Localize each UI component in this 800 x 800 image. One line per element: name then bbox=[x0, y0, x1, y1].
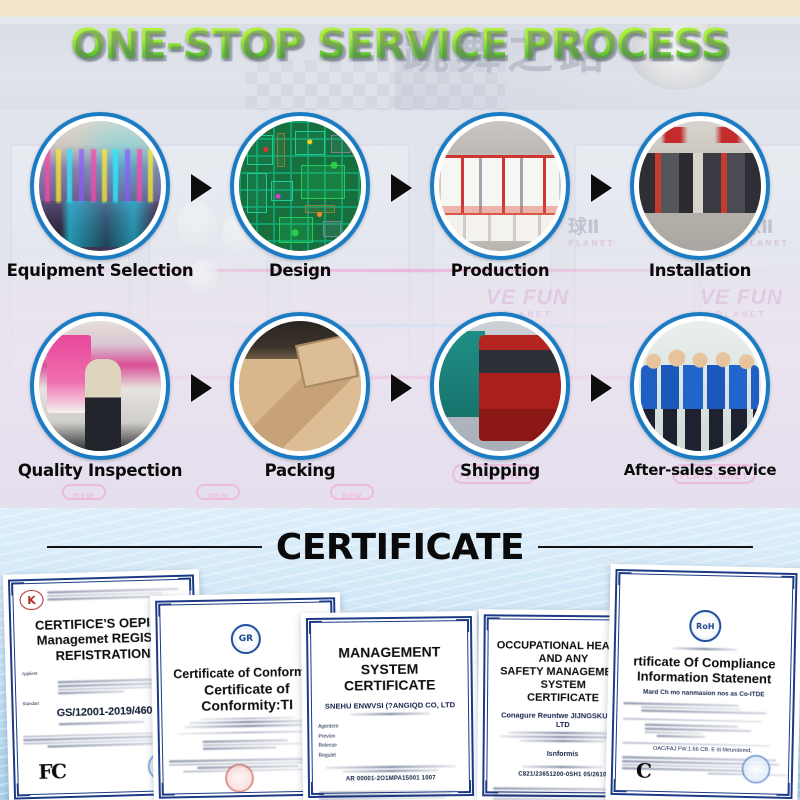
page-root: 跳舞之路 球ⅡPLANET 球ⅡPLANET VE FUNPLANET VE F… bbox=[0, 0, 800, 800]
certificate-company: SNEHU ENWVSI (?ANGIQD CO, LTD bbox=[318, 700, 462, 712]
step-circle[interactable] bbox=[230, 312, 370, 460]
step-photo-installation bbox=[639, 121, 761, 251]
step-photo-quality-inspection bbox=[39, 321, 161, 451]
certificate-field-regulet: Regulet bbox=[319, 750, 463, 761]
process-step-production[interactable]: Production bbox=[400, 112, 600, 297]
official-stamp-icon bbox=[742, 755, 771, 784]
process-row-1: Equipment Selection bbox=[0, 112, 800, 297]
process-step-equipment-selection[interactable]: Equipment Selection bbox=[0, 112, 200, 297]
step-label: Equipment Selection bbox=[7, 262, 194, 280]
step-label: Shipping bbox=[460, 462, 540, 480]
process-step-shipping[interactable]: Shipping bbox=[400, 312, 600, 497]
process-section: 跳舞之路 球ⅡPLANET 球ⅡPLANET VE FUNPLANET VE F… bbox=[0, 0, 800, 508]
process-step-installation[interactable]: Installation bbox=[600, 112, 800, 297]
certificate-detail-lines bbox=[319, 766, 463, 773]
certificate-section-title: CERTIFICATE bbox=[276, 527, 524, 568]
step-photo-production bbox=[439, 121, 561, 251]
ce-mark-icon: C bbox=[636, 758, 652, 782]
step-photo-after-sales-service bbox=[639, 321, 761, 451]
certificate-body: RoH rtificate Of Compliance Information … bbox=[622, 580, 787, 788]
step-circle[interactable] bbox=[430, 312, 570, 460]
step-photo-equipment-selection bbox=[39, 121, 161, 251]
divider-right bbox=[538, 546, 753, 548]
step-label: After-sales service bbox=[624, 462, 776, 479]
certificate-detail-lines bbox=[623, 702, 784, 747]
step-circle[interactable] bbox=[30, 312, 170, 460]
certificate-title-line-1: MANAGEMENT SYSTEM bbox=[317, 643, 461, 678]
page-title: ONE-STOP SERVICE PROCESS bbox=[0, 20, 800, 68]
step-photo-design bbox=[239, 121, 361, 251]
step-circle[interactable] bbox=[630, 312, 770, 460]
gri-round-seal-icon: GR bbox=[231, 624, 262, 655]
process-step-packing[interactable]: Packing bbox=[200, 312, 400, 497]
step-label: Installation bbox=[649, 262, 751, 280]
step-circle[interactable] bbox=[30, 112, 170, 260]
certificate-card-5[interactable]: RoH rtificate Of Compliance Information … bbox=[605, 564, 800, 800]
step-label: Packing bbox=[265, 462, 336, 480]
step-circle[interactable] bbox=[630, 112, 770, 260]
certificate-title-line-2: CERTIFICATE bbox=[318, 676, 462, 694]
certificate-title-line-2: Information Statenent bbox=[624, 669, 784, 688]
k-mark-logo-icon: K bbox=[19, 590, 44, 611]
certificate-card-3[interactable]: MANAGEMENT SYSTEM CERTIFICATE SNEHU ENWV… bbox=[301, 611, 479, 800]
certificate-section: CERTIFICATE K bbox=[0, 508, 800, 800]
certificate-code: OAC/FAJ FW.1:66 CB. E di Meundemd, bbox=[622, 745, 782, 755]
fcc-mark-icon: FC bbox=[38, 759, 66, 784]
step-photo-shipping bbox=[439, 321, 561, 451]
step-circle[interactable] bbox=[430, 112, 570, 260]
certificate-code: AR 00001-2O1MPA15001 1007 bbox=[319, 775, 463, 783]
step-label: Quality Inspection bbox=[18, 462, 182, 480]
process-step-quality-inspection[interactable]: Quality Inspection bbox=[0, 312, 200, 497]
process-row-2: Quality Inspection Packing bbox=[0, 312, 800, 497]
step-label: Production bbox=[451, 262, 550, 280]
process-step-design[interactable]: Design bbox=[200, 112, 400, 297]
step-label: Design bbox=[269, 262, 331, 280]
certificate-body: MANAGEMENT SYSTEM CERTIFICATE SNEHU ENWV… bbox=[317, 627, 463, 787]
certificate-gallery: K CERTIFICE'S OEPIEM Managemet REGISTA R… bbox=[0, 568, 800, 800]
certificate-company: Mard Ch mo nanmasion nos as Co-ITDE bbox=[624, 688, 784, 700]
rohs-round-seal-icon: RoH bbox=[689, 610, 722, 643]
divider-left bbox=[47, 546, 262, 548]
step-circle[interactable] bbox=[230, 112, 370, 260]
step-photo-packing bbox=[239, 321, 361, 451]
certificate-footer-lines bbox=[319, 790, 463, 800]
process-step-after-sales-service[interactable]: After-sales service bbox=[600, 312, 800, 497]
